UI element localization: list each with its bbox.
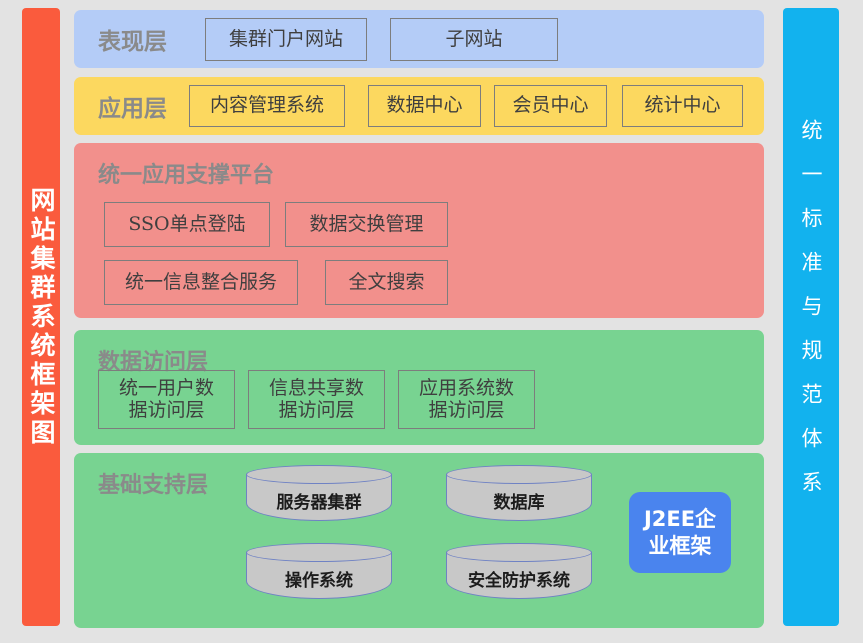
cylinder-server-cluster[interactable]: 服务器集群 [246,465,392,521]
node-statistics-center[interactable]: 统计中心 [622,85,743,127]
node-information-sharing-data-access-layer[interactable]: 信息共享数 据访问层 [248,370,385,429]
node-unified-user-data-access-layer[interactable]: 统一用户数 据访问层 [98,370,235,429]
layer-title-application: 应用层 [98,89,167,123]
architecture-diagram: 网站集群系统框架图 统一标准与规范体系 表现层 集群门户网站 子网站 应用层 内… [0,0,863,643]
left-vertical-banner: 网站集群系统框架图 [22,8,60,626]
cylinder-label: 数据库 [446,479,592,521]
node-member-center[interactable]: 会员中心 [494,85,607,127]
cylinder-security-protection-system[interactable]: 安全防护系统 [446,543,592,599]
cylinder-label: 操作系统 [246,557,392,599]
cylinder-database[interactable]: 数据库 [446,465,592,521]
chip-j2ee-enterprise-framework[interactable]: J2EE企 业框架 [629,492,731,573]
layer-title-presentation: 表现层 [98,22,167,56]
node-content-management-system[interactable]: 内容管理系统 [189,85,345,127]
node-sso-single-sign-on[interactable]: SSO单点登陆 [104,202,270,247]
node-application-system-data-access-layer[interactable]: 应用系统数 据访问层 [398,370,535,429]
layer-title-infrastructure: 基础支持层 [98,467,208,499]
node-cluster-portal[interactable]: 集群门户网站 [205,18,367,61]
node-data-center[interactable]: 数据中心 [368,85,481,127]
right-vertical-banner: 统一标准与规范体系 [783,8,839,626]
cylinder-label: 安全防护系统 [446,557,592,599]
node-full-text-search[interactable]: 全文搜索 [325,260,448,305]
cylinder-label: 服务器集群 [246,479,392,521]
cylinder-operating-system[interactable]: 操作系统 [246,543,392,599]
node-unified-information-integration-service[interactable]: 统一信息整合服务 [104,260,298,305]
node-data-exchange-management[interactable]: 数据交换管理 [285,202,448,247]
layer-title-support-platform: 统一应用支撑平台 [98,157,274,189]
node-sub-site[interactable]: 子网站 [390,18,558,61]
